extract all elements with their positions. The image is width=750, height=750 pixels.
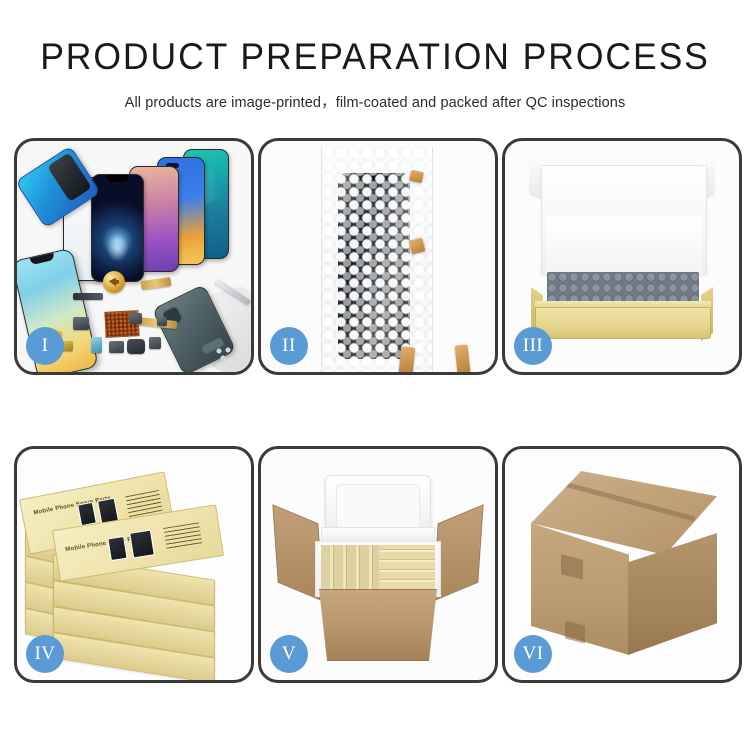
speaker-module-graphic <box>103 271 125 293</box>
screws-graphic <box>215 347 233 361</box>
carton-tape-seam <box>549 478 695 522</box>
spare-part-graphic <box>91 337 102 353</box>
flex-cable-graphic <box>73 293 103 300</box>
spare-part-graphic <box>157 317 167 326</box>
process-step-grid: I II <box>14 138 736 683</box>
step-badge-1: I <box>26 327 64 365</box>
sealed-carton-graphic <box>531 471 717 661</box>
spare-part-graphic <box>109 341 124 353</box>
page-subtitle: All products are image-printed，film-coat… <box>0 91 750 112</box>
carton-right-face <box>628 533 717 655</box>
page-header: PRODUCT PREPARATION PROCESS All products… <box>0 0 750 112</box>
tape-graphic <box>399 346 416 372</box>
page-title: PRODUCT PREPARATION PROCESS <box>15 38 735 77</box>
step-badge-5: V <box>270 635 308 673</box>
product-preparation-page: PRODUCT PREPARATION PROCESS All products… <box>0 0 750 750</box>
process-step-panel-3[interactable]: III <box>502 138 742 375</box>
spare-part-graphic <box>149 337 161 349</box>
kraft-box-front-graphic <box>535 307 711 339</box>
spare-part-graphic <box>73 317 89 330</box>
box-print-screen-image <box>107 536 127 561</box>
process-step-panel-6[interactable]: VI <box>502 446 742 683</box>
bubble-wrap-bag-graphic <box>321 147 433 372</box>
process-step-panel-5[interactable]: V <box>258 446 498 683</box>
foam-sheet-graphic <box>545 217 703 277</box>
box-print-screen-image <box>129 529 155 558</box>
step-badge-6: VI <box>514 635 552 673</box>
spare-part-graphic <box>129 313 142 324</box>
process-step-panel-2[interactable]: II <box>258 138 498 375</box>
step-badge-3: III <box>514 327 552 365</box>
inner-yellow-boxes-graphic <box>379 545 435 589</box>
flex-cable-graphic <box>141 277 172 290</box>
tape-graphic <box>409 170 424 183</box>
carton-body-graphic <box>311 589 445 661</box>
process-step-panel-4[interactable]: Mobile Phone Spare Parts Mobile Phone Sp… <box>14 446 254 683</box>
step-badge-2: II <box>270 327 308 365</box>
tape-graphic <box>455 344 471 372</box>
process-step-panel-1[interactable]: I <box>14 138 254 375</box>
spare-part-graphic <box>127 339 145 354</box>
step-badge-4: IV <box>26 635 64 673</box>
black-screen-phone-graphic <box>91 174 144 282</box>
carton-tab <box>565 621 585 644</box>
